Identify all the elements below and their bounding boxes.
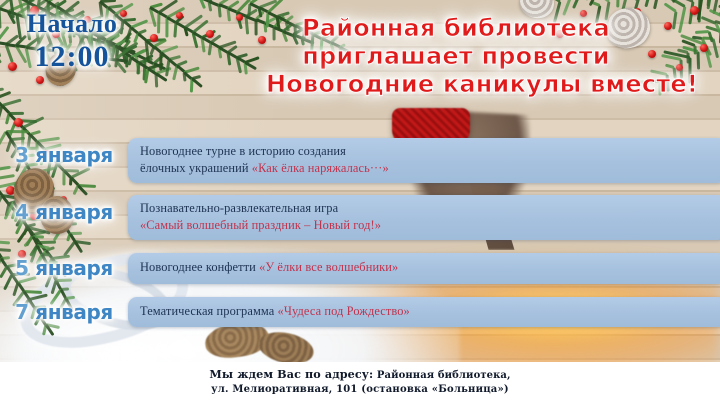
event-date-month: января	[35, 143, 113, 167]
start-time-badge: Начало 12:00	[16, 10, 128, 73]
event-text-line-2: Тематическая программа «Чудеса под Рожде…	[140, 303, 716, 320]
event-text-plain: Тематическая программа	[140, 304, 278, 318]
event-description-panel: Новогоднее конфетти «У ёлки все волшебни…	[128, 253, 720, 283]
title-line-2: приглашает провести	[266, 42, 646, 70]
event-text-line-2: Новогоднее конфетти «У ёлки все волшебни…	[140, 259, 716, 276]
event-date-month: января	[35, 256, 113, 280]
event-date-label: 7 января	[0, 297, 128, 324]
event-description-panel: Познавательно-развлекательная игра «Самы…	[128, 195, 720, 240]
poster-root: Начало 12:00 Районная библиотека приглаш…	[0, 0, 720, 405]
footer-line-2: ул. Мелиоративная, 101 (остановка «Больн…	[0, 384, 720, 395]
event-text-quote: «Как ёлка наряжалась···»	[252, 161, 389, 175]
event-description-panel: Новогоднее турне в историю создания ёлоч…	[128, 138, 720, 183]
event-text-plain: ёлочных украшений	[140, 161, 252, 175]
event-date-number: 5	[15, 256, 29, 280]
event-date-number: 7	[15, 300, 29, 324]
footer-inner: Мы ждем Вас по адресу: Районная библиоте…	[0, 362, 720, 395]
event-text-quote: «Чудеса под Рождество»	[278, 304, 410, 318]
event-text-plain: Новогоднее конфетти	[140, 260, 259, 274]
footer-address-label: Мы ждем Вас по адресу:	[209, 367, 373, 381]
event-row: 4 января Познавательно-развлекательная и…	[0, 195, 720, 240]
event-text-line-1: Познавательно-развлекательная игра	[140, 200, 716, 217]
footer-line-1: Мы ждем Вас по адресу: Районная библиоте…	[0, 367, 720, 381]
event-text-line-2: «Самый волшебный праздник – Новый год!»	[140, 217, 716, 234]
start-label: Начало	[16, 10, 128, 37]
event-text-quote: «У ёлки все волшебники»	[259, 260, 398, 274]
event-date-month: января	[35, 200, 113, 224]
event-row: 7 января Тематическая программа «Чудеса …	[0, 297, 720, 327]
footer-venue-name: Районная библиотека,	[373, 370, 510, 381]
event-date-month: января	[35, 300, 113, 324]
start-time: 12:00	[16, 41, 128, 73]
event-date-label: 4 января	[0, 195, 128, 224]
event-text-line-1: Новогоднее турне в историю создания	[140, 143, 716, 160]
event-schedule-list: 3 января Новогоднее турне в историю созд…	[0, 138, 720, 327]
event-date-label: 3 января	[0, 138, 128, 167]
poster-title: Районная библиотека приглашает провести …	[266, 14, 646, 98]
title-line-3: Новогодние каникулы вместе!	[266, 70, 646, 98]
title-line-1: Районная библиотека	[266, 14, 646, 42]
event-text-line-2: ёлочных украшений «Как ёлка наряжалась··…	[140, 160, 716, 177]
event-row: 5 января Новогоднее конфетти «У ёлки все…	[0, 253, 720, 283]
event-text-quote: «Самый волшебный праздник – Новый год!»	[140, 218, 381, 232]
event-date-number: 3	[15, 143, 29, 167]
event-row: 3 января Новогоднее турне в историю созд…	[0, 138, 720, 183]
event-description-panel: Тематическая программа «Чудеса под Рожде…	[128, 297, 720, 327]
event-date-label: 5 января	[0, 253, 128, 280]
footer-address-bar: Мы ждем Вас по адресу: Районная библиоте…	[0, 362, 720, 405]
event-date-number: 4	[15, 200, 29, 224]
